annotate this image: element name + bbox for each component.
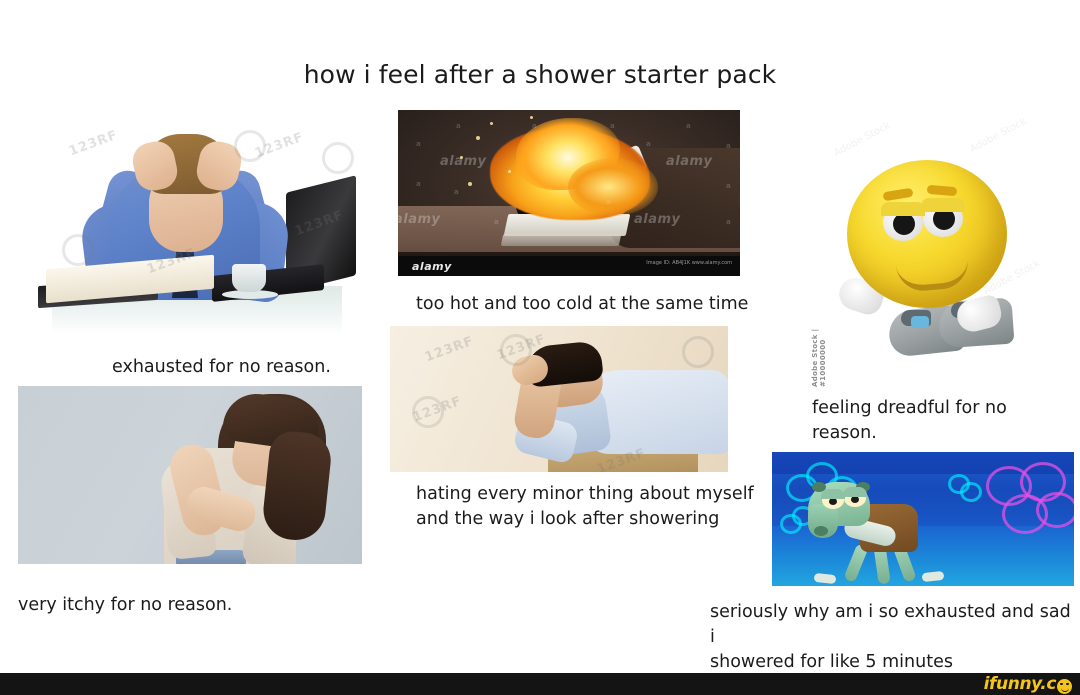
panel-squidward: [772, 452, 1074, 586]
squidward-right-eyelid: [843, 487, 867, 497]
panel-itchy-woman: [18, 386, 362, 564]
left-eyelid: [881, 202, 925, 216]
watermark-ring-icon: [322, 142, 354, 174]
left-shoe-tongue: [911, 316, 929, 328]
spark: [460, 156, 463, 159]
stock-watermark-123rf: 123RF: [67, 128, 120, 160]
keyboard-reflection: [501, 234, 622, 246]
coffee-cup: [232, 264, 266, 292]
ifunny-brand-text: ifunny.c: [984, 674, 1056, 694]
alamy-image-code: Image ID: AB4J1K www.alamy.com: [646, 260, 732, 266]
smiley-face-icon: [1057, 679, 1072, 694]
squidward-left-eyelid: [821, 489, 845, 499]
spark: [508, 170, 511, 173]
meme-canvas: how i feel after a shower starter pack 1…: [0, 0, 1080, 695]
panel-sad-emoji: Adobe Stock Adobe Stock Adobe Stock Adob…: [805, 112, 1055, 387]
spark: [490, 122, 493, 125]
stock-watermark-adobe: Adobe Stock: [832, 120, 892, 159]
panel-bent-over-man: 123RF 123RF 123RF 123RF: [390, 326, 728, 472]
caption-hot-cold: too hot and too cold at the same time: [416, 292, 748, 317]
panel-exhausted-desk: 123RF 123RF 123RF 123RF: [22, 112, 362, 334]
spark: [476, 136, 480, 140]
squidward-left-pupil: [829, 498, 837, 505]
flame-small: [568, 158, 658, 216]
right-eyelid: [921, 198, 965, 212]
meme-title: how i feel after a shower starter pack: [0, 60, 1080, 89]
spark: [530, 116, 533, 119]
left-pupil: [893, 213, 915, 235]
bottom-bar: ifunny.c: [0, 673, 1080, 695]
head-spot: [814, 526, 828, 536]
spark: [468, 182, 472, 186]
stock-watermark-adobe: Adobe Stock: [968, 116, 1028, 155]
caption-itchy: very itchy for no reason.: [18, 593, 232, 618]
caption-seriously-why: seriously why am i so exhausted and sad …: [710, 600, 1078, 675]
squidward-right-pupil: [851, 496, 859, 503]
caption-hating-myself: hating every minor thing about myself an…: [416, 482, 786, 532]
stock-watermark-123rf: 123RF: [253, 130, 306, 162]
caption-exhausted: exhausted for no reason.: [112, 355, 331, 380]
adobe-stock-side-label: Adobe Stock | #10000000: [811, 298, 827, 387]
caption-dreadful: feeling dreadful for no reason.: [812, 396, 1022, 446]
ifunny-watermark: ifunny.c: [984, 674, 1072, 694]
panel-fire-keyboard: alamy alamy alamy alamy a a a a a a a a …: [398, 110, 740, 276]
alamy-brand-label: alamy: [412, 260, 452, 273]
alamy-footer-bar: alamy Image ID: AB4J1K www.alamy.com: [398, 256, 740, 276]
